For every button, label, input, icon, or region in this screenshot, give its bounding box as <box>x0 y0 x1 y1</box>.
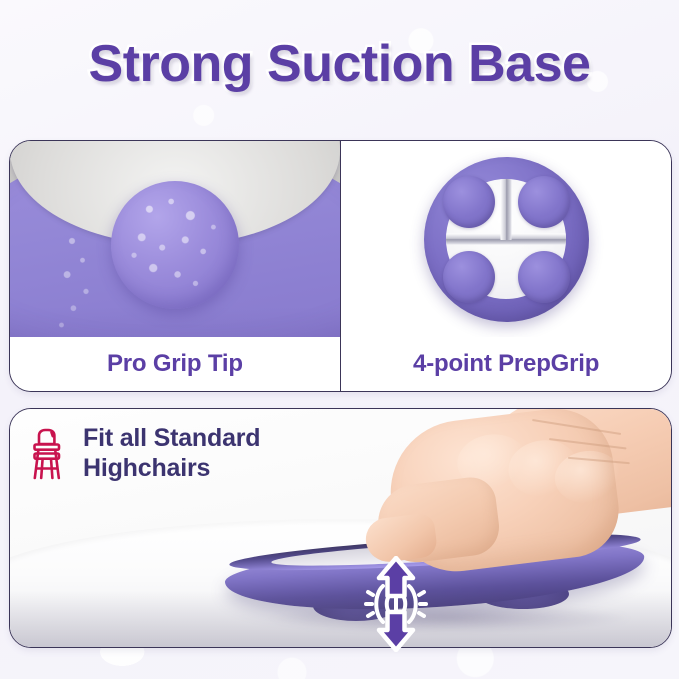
suction-pad-bottom-right <box>518 251 570 303</box>
feature-grid: Pro Grip Tip 4-point PrepGrip <box>10 141 671 391</box>
caption-prepgrip: 4-point PrepGrip <box>341 337 671 391</box>
arrow-down-icon <box>379 612 413 650</box>
table-edge-shadow <box>10 591 671 647</box>
water-droplets-side <box>44 229 114 337</box>
feature-panel-prepgrip: 4-point PrepGrip <box>341 141 671 391</box>
page-title: Strong Suction Base <box>89 34 591 94</box>
water-droplets-icon <box>111 181 239 309</box>
suction-pull-arrows-icon <box>356 556 436 652</box>
suction-base-graphic <box>424 157 589 322</box>
arrow-up-icon <box>379 558 413 596</box>
pro-grip-tip-photo <box>10 141 340 337</box>
highchair-icon <box>28 428 70 480</box>
feature-panel-pro-grip-tip: Pro Grip Tip <box>10 141 340 391</box>
caption-pro-grip-tip: Pro Grip Tip <box>10 337 340 391</box>
suction-pad-bottom-left <box>443 251 495 303</box>
crossbar-vertical <box>501 179 512 240</box>
feature-card-top: Pro Grip Tip 4-point PrepGrip <box>9 140 672 392</box>
suction-pad-top-left <box>443 176 495 228</box>
fit-standard-highchairs-label: Fit all Standard Highchairs <box>83 424 260 483</box>
title-area: Strong Suction Base <box>0 0 679 128</box>
fit-standard-highchairs-badge: Fit all Standard Highchairs <box>28 424 260 483</box>
prepgrip-photo <box>341 141 671 337</box>
suction-pad-top-right <box>518 176 570 228</box>
grip-dome-tip <box>111 181 239 309</box>
